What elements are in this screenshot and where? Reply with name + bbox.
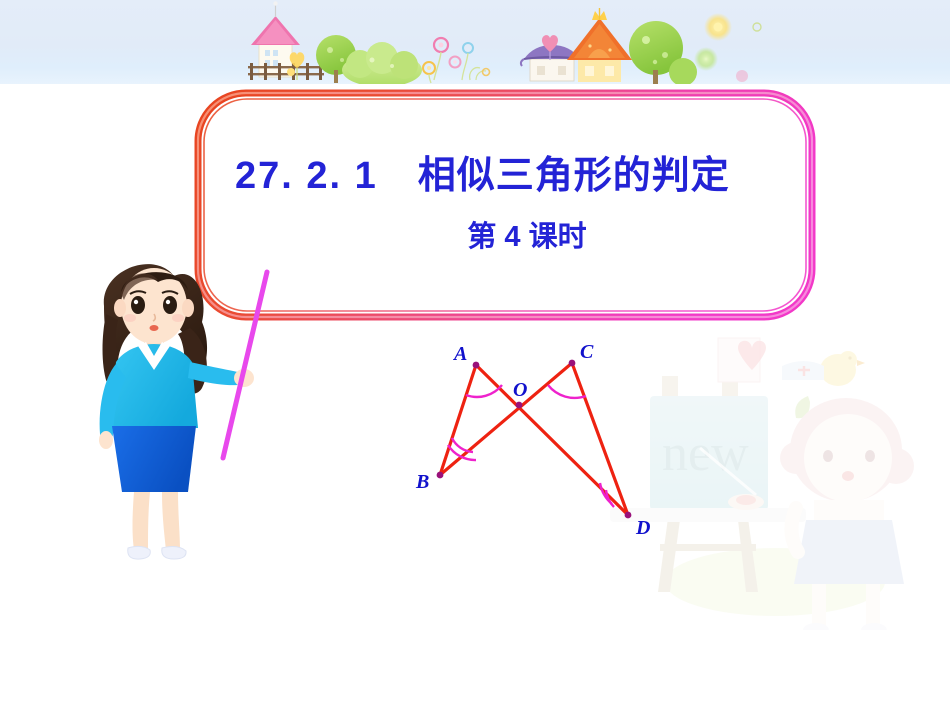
leg-right (162, 492, 180, 550)
vertex-C (569, 360, 576, 367)
pink-flower (434, 38, 448, 80)
glow-ring (753, 23, 761, 31)
cheek-left (124, 314, 136, 322)
pink-flower-small (450, 57, 461, 68)
tiny-flower (483, 69, 490, 76)
girl-mouth (842, 471, 854, 481)
skirt (112, 426, 196, 492)
eye-left-glint (134, 300, 138, 304)
vertex-A (473, 362, 480, 369)
decorative-header-banner (0, 0, 950, 84)
rounded-title-box (193, 88, 817, 322)
yellow-flower (423, 62, 435, 83)
geo-label-C: C (580, 341, 593, 364)
eye-right (163, 296, 177, 314)
vertex-O (516, 402, 523, 409)
girl-arm (791, 508, 798, 552)
girl-eye-right (865, 450, 875, 462)
glow-dot-green (694, 47, 718, 71)
geo-label-D: D (636, 517, 650, 540)
girl-face (804, 414, 892, 502)
bird-icon (820, 351, 865, 386)
mouth (150, 325, 159, 331)
crown-finial (592, 8, 607, 20)
ear-right (182, 299, 194, 317)
geo-label-O: O (513, 379, 527, 402)
vertex-B (437, 472, 444, 479)
triangle-lines (440, 363, 628, 515)
ear-left (114, 299, 126, 317)
big-green-tree (629, 21, 697, 84)
pink-dot (736, 70, 748, 82)
girl-eye-left (823, 450, 833, 462)
geo-label-B: B (416, 471, 429, 494)
blue-flower (462, 43, 473, 80)
eye-left (131, 296, 145, 314)
banner-artwork (0, 0, 950, 84)
girl-dress (794, 520, 904, 584)
geo-label-A: A (454, 343, 467, 366)
slide-canvas: 27. 2. 1相似三角形的判定 第 4 课时 (0, 0, 950, 713)
glow-dot-core (714, 23, 723, 32)
hand-left (99, 431, 113, 449)
segment-CD (572, 363, 628, 515)
girl-shoe-right (861, 623, 887, 630)
vertex-dots (437, 360, 632, 519)
shoe-left (128, 546, 151, 559)
vertex-D (625, 512, 632, 519)
similar-triangles-figure: A B C D O (400, 340, 680, 555)
cheek-right (172, 314, 184, 322)
purple-roof-building (521, 45, 583, 81)
shoe-right (162, 547, 186, 559)
eraser-top (736, 495, 756, 505)
eye-right-glint (166, 300, 170, 304)
orange-roof-house (567, 18, 632, 82)
cap-icon (782, 361, 824, 380)
leg-left (133, 492, 151, 550)
pointer-stick (215, 268, 275, 463)
girl-collar (814, 500, 884, 520)
